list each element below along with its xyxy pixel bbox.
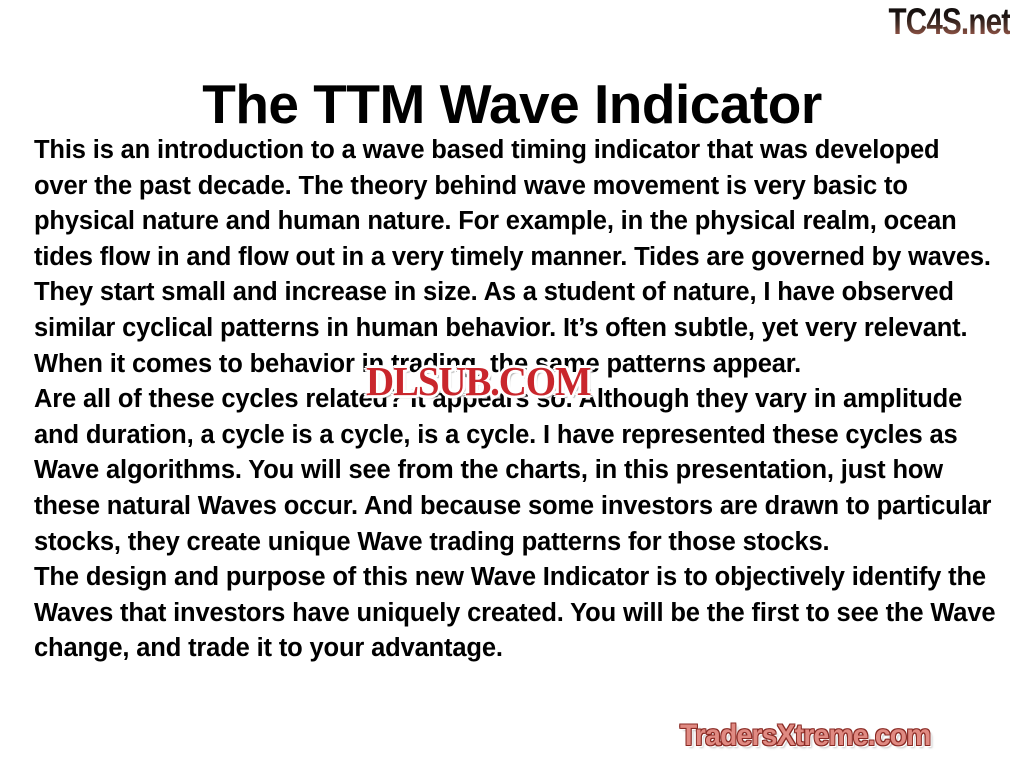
- body-paragraph-3: The design and purpose of this new Wave …: [34, 560, 998, 667]
- tradersxtreme-watermark-logo: TradersXtreme.com: [680, 718, 931, 754]
- slide-canvas: TC4S.net The TTM Wave Indicator This is …: [0, 0, 1024, 768]
- tc4s-watermark-logo: TC4S.net: [888, 2, 1010, 42]
- body-paragraph-1: This is an introduction to a wave based …: [34, 133, 998, 382]
- dlsub-watermark-overlay: DLSUB.COM: [366, 360, 591, 403]
- page-title: The TTM Wave Indicator: [0, 73, 1024, 135]
- body-paragraph-2: Are all of these cycles related? It appe…: [34, 382, 998, 560]
